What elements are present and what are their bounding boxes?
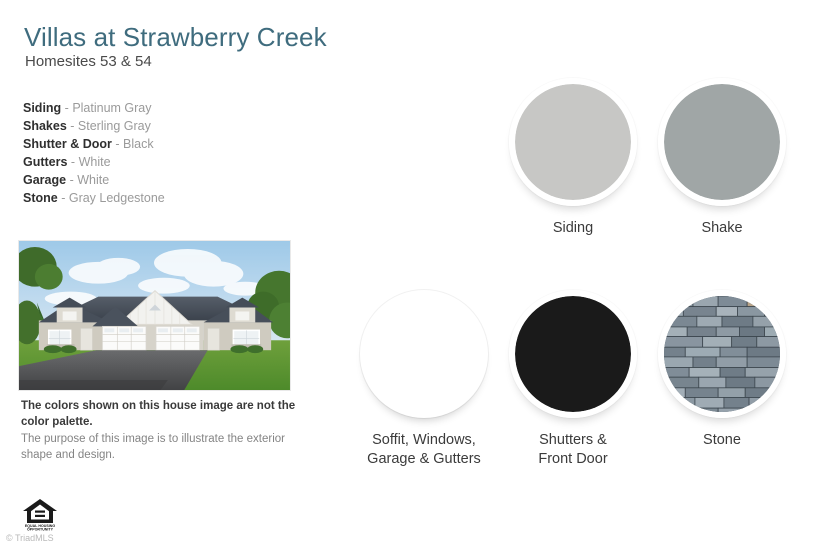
spec-row: Stone - Gray Ledgestone (23, 189, 323, 207)
spec-row: Shakes - Sterling Gray (23, 117, 323, 135)
spec-value: White (77, 173, 109, 187)
swatch-circle-shutter[interactable] (509, 290, 637, 418)
swatch-label-soffit-line1: Soffit, Windows, (372, 432, 476, 448)
swatch-fill-siding (515, 84, 631, 200)
swatch-label-siding: Siding (509, 219, 637, 238)
disclaimer-normal-text: The purpose of this image is to illustra… (21, 432, 301, 463)
spec-row: Shutter & Door - Black (23, 135, 323, 153)
spec-separator: - (61, 101, 72, 115)
spec-label: Shakes (23, 119, 67, 133)
spec-value: Platinum Gray (72, 101, 151, 115)
spec-label: Stone (23, 191, 58, 205)
swatch-fill-shutter (515, 296, 631, 412)
swatch-siding[interactable]: Siding (509, 78, 637, 238)
spec-separator: - (112, 137, 123, 151)
swatch-shake[interactable]: Shake (658, 78, 786, 238)
page-title: Villas at Strawberry Creek (24, 22, 327, 53)
spec-separator: - (67, 155, 78, 169)
spec-label: Gutters (23, 155, 67, 169)
swatch-fill-shake (664, 84, 780, 200)
spec-separator: - (58, 191, 69, 205)
spec-row: Gutters - White (23, 153, 323, 171)
swatch-fill-soffit (366, 296, 482, 412)
swatch-label-shutter: Shutters & Front Door (493, 431, 653, 469)
spec-separator: - (67, 119, 78, 133)
swatch-shutters-front-door[interactable]: Shutters & Front Door (509, 290, 637, 469)
material-spec-list: Siding - Platinum Gray Shakes - Sterling… (23, 99, 323, 207)
spec-value: Sterling Gray (78, 119, 151, 133)
stone-texture (664, 296, 780, 412)
swatch-label-soffit-line2: Garage & Gutters (367, 451, 481, 467)
eho-house-glyph: EQUAL HOUSING OPPORTUNITY (20, 497, 60, 531)
spec-value: White (79, 155, 111, 169)
swatch-circle-stone[interactable] (658, 290, 786, 418)
swatch-circle-shake[interactable] (658, 78, 786, 206)
swatch-stone[interactable]: Stone (658, 290, 786, 450)
page-subtitle: Homesites 53 & 54 (25, 53, 152, 70)
spec-row: Siding - Platinum Gray (23, 99, 323, 117)
swatch-label-soffit: Soffit, Windows, Garage & Gutters (334, 431, 514, 469)
disclaimer-bold-text: The colors shown on this house image are… (21, 399, 301, 430)
swatch-label-stone: Stone (658, 431, 786, 450)
color-palette-board: Villas at Strawberry Creek Homesites 53 … (0, 0, 825, 549)
spec-value: Gray Ledgestone (69, 191, 165, 205)
spec-label: Siding (23, 101, 61, 115)
swatch-label-shake: Shake (658, 219, 786, 238)
svg-text:OPPORTUNITY: OPPORTUNITY (27, 528, 54, 531)
swatch-circle-soffit[interactable] (360, 290, 488, 418)
swatch-fill-stone (664, 296, 780, 412)
spec-label: Shutter & Door (23, 137, 112, 151)
image-disclaimer: The colors shown on this house image are… (21, 399, 301, 463)
swatch-label-shutter-line1: Shutters & (539, 432, 607, 448)
copyright-text: © TriadMLS (6, 533, 54, 543)
house-illustration (19, 241, 290, 391)
spec-label: Garage (23, 173, 66, 187)
spec-row: Garage - White (23, 171, 323, 189)
swatch-circle-siding[interactable] (509, 78, 637, 206)
swatch-label-shutter-line2: Front Door (538, 451, 607, 467)
equal-housing-opportunity-icon: EQUAL HOUSING OPPORTUNITY (20, 497, 60, 531)
spec-value: Black (123, 137, 154, 151)
spec-separator: - (66, 173, 77, 187)
house-rendering-image (18, 240, 291, 391)
swatch-soffit-windows-garage-gutters[interactable]: Soffit, Windows, Garage & Gutters (360, 290, 488, 469)
